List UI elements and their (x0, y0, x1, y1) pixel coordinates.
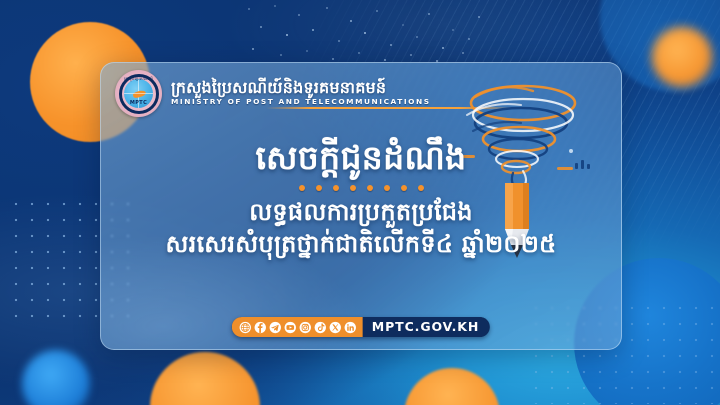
decor-star (326, 7, 328, 9)
decor-star-field (240, 2, 490, 64)
instagram-icon-button[interactable] (299, 321, 312, 334)
decor-star (332, 58, 334, 60)
header-accent-rule (266, 107, 514, 109)
decor-star (428, 13, 430, 15)
decor-star (286, 34, 288, 36)
decor-star (390, 44, 392, 46)
decor-dot-divider (113, 185, 609, 191)
website-globe-icon-button[interactable] (239, 321, 252, 334)
tiktok-icon[interactable] (314, 321, 327, 334)
x-twitter-icon[interactable] (329, 321, 342, 334)
youtube-icon-button[interactable] (284, 321, 297, 334)
ministry-name-english: MINISTRY OF POST AND TELECOMMUNICATIONS (171, 98, 431, 105)
x-twitter-icon-button[interactable] (329, 321, 342, 334)
facebook-icon-button[interactable] (254, 321, 267, 334)
decor-star (416, 36, 418, 38)
divider-dot (367, 185, 373, 191)
divider-dot (401, 185, 407, 191)
decor-circle-orange-top-right (652, 27, 712, 87)
social-footer-bar: MPTC.GOV.KH (232, 317, 490, 337)
emblem-khmer-arc-text: ក្រសួងប្រៃសណីយ៍ (115, 77, 162, 81)
divider-dot (418, 185, 424, 191)
subtitle-line-1: លទ្ធផលការប្រកួតប្រជែង (113, 197, 609, 229)
decor-star (274, 5, 276, 7)
divider-dot (316, 185, 322, 191)
headline-block: សេចក្ដីជូនដំណឹង លទ្ធផលការប្រកួតប្រជែង សរ… (101, 139, 621, 260)
linkedin-icon-button[interactable] (344, 321, 357, 334)
decor-star (358, 52, 360, 54)
facebook-icon[interactable] (254, 321, 267, 334)
decor-star (248, 8, 250, 10)
card-header: ក្រសួងប្រៃសណីយ៍ MPTC ក្រសួងប្រៃសណីយ៍និងទ… (115, 70, 431, 117)
decor-star (312, 29, 314, 31)
decor-star (260, 26, 262, 28)
divider-dot (350, 185, 356, 191)
mptc-emblem-icon: ក្រសួងប្រៃសណីយ៍ MPTC (115, 70, 162, 117)
content-card: ក្រសួងប្រៃសណីយ៍ MPTC ក្រសួងប្រៃសណីយ៍និងទ… (100, 62, 622, 350)
telegram-icon-button[interactable] (269, 321, 282, 334)
decor-star (402, 24, 404, 26)
decor-star (298, 14, 300, 16)
website-url-text: MPTC.GOV.KH (372, 321, 479, 334)
instagram-icon[interactable] (299, 321, 312, 334)
emblem-landmass (132, 89, 147, 99)
decor-star (442, 47, 444, 49)
decor-star (338, 40, 340, 42)
decor-star (364, 32, 366, 34)
linkedin-icon[interactable] (344, 321, 357, 334)
decor-star (252, 48, 254, 50)
website-chip[interactable]: MPTC.GOV.KH (363, 317, 490, 337)
decor-star (462, 52, 464, 54)
ministry-titles: ក្រសួងប្រៃសណីយ៍និងទូរគមនាគមន៍ MINISTRY O… (171, 79, 431, 108)
decor-star (350, 20, 352, 22)
announcement-banner: ក្រសួងប្រៃសណីយ៍ MPTC ក្រសួងប្រៃសណីយ៍និងទ… (0, 0, 720, 405)
decor-star (452, 29, 454, 31)
decor-star (376, 10, 378, 12)
decor-star (306, 50, 308, 52)
divider-dot (333, 185, 339, 191)
social-icon-strip (232, 317, 363, 337)
website-globe-icon[interactable] (239, 321, 252, 334)
decor-star (280, 54, 282, 56)
emblem-abbreviation: MPTC (115, 101, 162, 106)
decor-star (384, 59, 386, 61)
decor-star (478, 16, 480, 18)
decor-star (468, 38, 470, 40)
youtube-icon[interactable] (284, 321, 297, 334)
telegram-icon[interactable] (269, 321, 282, 334)
divider-dot (384, 185, 390, 191)
divider-dot (299, 185, 305, 191)
tiktok-icon-button[interactable] (314, 321, 327, 334)
subtitle-line-2: សរសេរសំបុត្រថ្នាក់ជាតិលើកទី៤ ឆ្នាំ២០២៥ (113, 229, 609, 261)
ministry-name-khmer: ក្រសួងប្រៃសណីយ៍និងទូរគមនាគមន៍ (171, 79, 431, 97)
page-title: សេចក្ដីជូនដំណឹង (113, 139, 609, 178)
decor-star (410, 54, 412, 56)
